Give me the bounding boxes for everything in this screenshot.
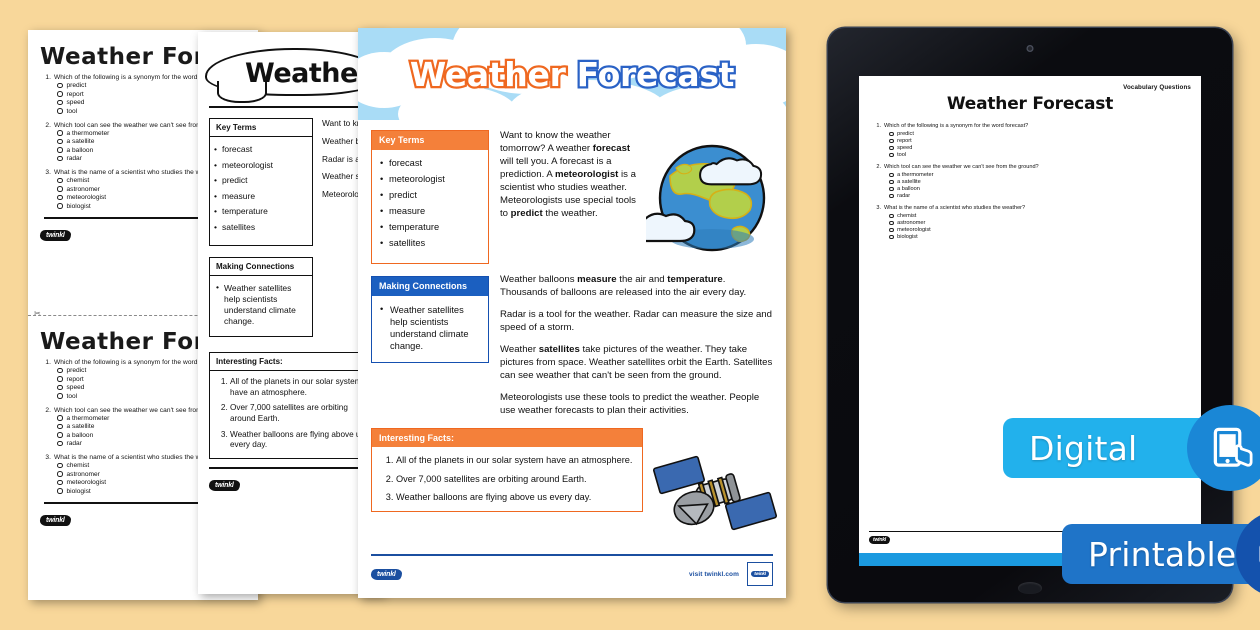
option-label: astronomer [67,471,100,478]
option-label: astronomer [67,186,100,193]
key-term: predict [222,175,306,185]
option-label: report [897,138,912,144]
option-label: predict [67,82,87,89]
key-terms-list: forecast meteorologist predict measure t… [372,150,488,263]
visit-twinkl-link[interactable]: visit twinkl.com [689,571,739,578]
option-label: predict [67,367,87,374]
key-term: measure [389,206,482,216]
radio-icon[interactable] [57,376,63,382]
question-text: Which of the following is a synonym for … [884,123,1028,129]
option-label: a thermometer [67,130,110,137]
option-label: tool [897,152,906,158]
option-row[interactable]: biologist [889,234,1191,240]
interesting-fact: All of the planets in our solar system h… [230,377,366,398]
scene: Weather Forecast 1.Which of the followin… [0,0,1260,630]
option-label: biologist [67,488,91,495]
radio-icon[interactable] [889,139,894,144]
making-connections-heading: Making Connections [210,258,312,276]
option-label: report [67,91,84,98]
radio-icon[interactable] [889,228,894,233]
option-label: tool [67,108,78,115]
radio-icon[interactable] [57,178,63,184]
body-paragraph: Weather satellites take pictures of the … [500,343,774,382]
radio-icon[interactable] [57,463,63,469]
radio-icon[interactable] [889,132,894,137]
color-fact-sheet[interactable]: Weather Forecast Key Terms forecast mete… [358,28,786,598]
question-number: 2. [873,164,881,170]
digital-badge[interactable]: Digital [1003,418,1260,478]
question-number: 1. [40,359,51,366]
option-row[interactable]: tool [889,152,1191,158]
option-label: chemist [67,177,90,184]
body-paragraph: Weather balloons measure the air and tem… [500,273,774,299]
bw-interesting-facts-box: Interesting Facts: All of the planets in… [209,352,373,459]
interesting-fact: Over 7,000 satellites are orbiting aroun… [396,473,634,485]
radio-icon[interactable] [57,385,63,391]
radio-icon[interactable] [57,147,63,153]
twinkl-badge-logo: twinkl [751,571,769,578]
option-label: a satellite [897,179,921,185]
question-number: 1. [40,74,51,81]
option-label: predict [897,131,914,137]
body-paragraph: Radar is a tool for the weather. Radar c… [500,308,774,334]
radio-icon[interactable] [57,441,63,447]
key-term: predict [389,190,482,200]
option-row[interactable]: meteorologist [889,227,1191,233]
option-label: a thermometer [67,415,110,422]
question-number: 1. [873,123,881,129]
option-label: report [67,376,84,383]
screen-title: Weather Forecast [859,94,1201,114]
screen-question: 3.What is the name of a scientist who st… [873,205,1191,240]
interesting-facts-heading: Interesting Facts: [210,353,372,371]
twinkl-logo: twinkl [869,536,890,544]
tablet-screen[interactable]: Vocabulary Questions Weather Forecast 1.… [859,76,1201,566]
tablet-device[interactable]: Vocabulary Questions Weather Forecast 1.… [828,28,1232,602]
key-terms-box: Key Terms forecast meteorologist predict… [209,118,313,246]
question-text: Which tool can see the weather we can't … [884,164,1039,170]
radio-icon[interactable] [57,424,63,430]
radio-icon[interactable] [57,156,63,162]
divider [209,106,373,108]
radio-icon[interactable] [57,368,63,374]
printable-badge-label: Printable [1062,524,1260,584]
twinkl-logo: twinkl [40,515,71,526]
option-label: chemist [67,462,90,469]
blackwhite-fact-sheet[interactable]: Weather Key Terms forecast meteorologist… [198,32,383,594]
option-row[interactable]: astronomer [889,220,1191,226]
twinkl-logo: twinkl [371,569,402,580]
radio-icon[interactable] [57,393,63,399]
option-row[interactable]: speed [889,145,1191,151]
camera-icon [1027,45,1034,52]
radio-icon[interactable] [889,180,894,185]
interesting-facts-heading: Interesting Facts: [372,429,642,447]
making-connections-box: Making Connections Weather satellites he… [209,257,313,337]
option-label: a thermometer [897,172,933,178]
radio-icon[interactable] [889,173,894,178]
sheet-footer: twinkl visit twinkl.com twinkl [371,554,773,586]
radio-icon[interactable] [889,146,894,151]
radio-icon[interactable] [57,415,63,421]
radio-icon[interactable] [57,488,63,494]
title-forecast: Forecast [577,55,734,94]
interesting-facts-list: All of the planets in our solar system h… [230,377,366,451]
divider [371,554,773,556]
key-term: forecast [222,144,306,154]
body-paragraph: Meteorologists use these tools to predic… [500,391,774,417]
sheet-header: Weather Forecast [358,28,786,120]
radio-icon[interactable] [57,186,63,192]
option-row[interactable]: a balloon [889,186,1191,192]
radio-icon[interactable] [57,139,63,145]
key-term: satellites [389,238,482,248]
radio-icon[interactable] [889,214,894,219]
key-term: meteorologist [222,160,306,170]
intro-paragraph: Want to know the weather tomorrow? A wea… [500,130,640,264]
radio-icon[interactable] [57,432,63,438]
interesting-fact: Weather balloons are flying above us eve… [396,491,634,503]
radio-icon[interactable] [57,480,63,486]
making-connections-heading: Making Connections [372,277,488,296]
radio-icon[interactable] [889,194,894,199]
radio-icon[interactable] [889,153,894,158]
screen-question-list: 1.Which of the following is a synonym fo… [859,114,1201,240]
option-label: radar [67,155,82,162]
key-term: satellites [222,222,306,232]
question-number: 3. [40,454,51,461]
option-label: meteorologist [897,227,931,233]
screen-kicker: Vocabulary Questions [859,76,1201,91]
option-label: a balloon [67,432,94,439]
option-label: radar [67,440,82,447]
option-label: speed [67,384,85,391]
question-number: 2. [40,122,51,129]
option-label: chemist [897,213,916,219]
radio-icon[interactable] [57,83,63,89]
radio-icon[interactable] [57,100,63,106]
radio-icon[interactable] [57,195,63,201]
option-row[interactable]: a satellite [889,179,1191,185]
twinkl-logo: twinkl [209,480,240,491]
key-terms-heading: Key Terms [372,131,488,150]
satellite-illustration [650,446,780,542]
key-terms-heading: Key Terms [210,119,312,137]
option-label: a balloon [67,147,94,154]
radio-icon[interactable] [889,221,894,226]
interesting-fact: Weather balloons are flying above us eve… [230,430,366,451]
option-label: radar [897,193,910,199]
key-term: temperature [222,206,306,216]
option-label: biologist [67,203,91,210]
earth-globe-illustration [646,136,774,264]
bw-header: Weather [209,42,373,104]
option-label: meteorologist [67,479,107,486]
option-list: chemist astronomer meteorologist biologi… [889,213,1191,240]
interesting-fact: All of the planets in our solar system h… [396,454,634,466]
home-button[interactable] [1018,582,1042,594]
option-row[interactable]: predict [889,131,1191,137]
key-terms-box: Key Terms forecast meteorologist predict… [371,130,489,264]
interesting-facts-box: Interesting Facts: All of the planets in… [371,428,643,511]
screen-question: 1.Which of the following is a synonym fo… [873,123,1191,158]
interesting-fact: Over 7,000 satellites are orbiting aroun… [230,403,366,424]
option-label: a balloon [897,186,920,192]
key-terms-list: forecast meteorologist predict measure t… [210,137,312,245]
option-label: a satellite [67,138,95,145]
making-connections-note: Weather satellites help scientists under… [210,276,312,336]
radio-icon[interactable] [57,108,63,114]
title-weather: Weather [410,55,566,94]
option-label: astronomer [897,220,925,226]
radio-icon[interactable] [57,471,63,477]
option-label: a satellite [67,423,95,430]
option-list: predict report speed tool [889,131,1191,158]
option-label: speed [67,99,85,106]
question-number: 3. [40,169,51,176]
question-number: 3. [873,205,881,211]
interesting-facts-list: All of the planets in our solar system h… [396,454,634,502]
twinkl-badge-icon: twinkl [747,562,773,586]
option-row[interactable]: chemist [889,213,1191,219]
option-label: tool [67,393,78,400]
making-connections-note: Weather satellites help scientists under… [372,296,488,362]
question-text: What is the name of a scientist who stud… [884,205,1025,211]
option-label: meteorologist [67,194,107,201]
option-list: a thermometer a satellite a balloon rada… [889,172,1191,199]
key-term: forecast [389,158,482,168]
option-label: speed [897,145,912,151]
option-row[interactable]: report [889,138,1191,144]
option-row[interactable]: a thermometer [889,172,1191,178]
option-row[interactable]: radar [889,193,1191,199]
radio-icon[interactable] [57,91,63,97]
bw-title: Weather [245,58,371,89]
radio-icon[interactable] [889,187,894,192]
screen-question: 2.Which tool can see the weather we can'… [873,164,1191,199]
key-term: meteorologist [389,174,482,184]
question-number: 2. [40,407,51,414]
radio-icon[interactable] [57,130,63,136]
radio-icon[interactable] [57,203,63,209]
making-connections-box: Making Connections Weather satellites he… [371,276,489,363]
printable-badge[interactable]: Printable [1062,524,1260,584]
radio-icon[interactable] [889,235,894,240]
divider [209,467,373,469]
twinkl-logo: twinkl [40,230,71,241]
key-term: temperature [389,222,482,232]
option-label: biologist [897,234,918,240]
key-term: measure [222,191,306,201]
